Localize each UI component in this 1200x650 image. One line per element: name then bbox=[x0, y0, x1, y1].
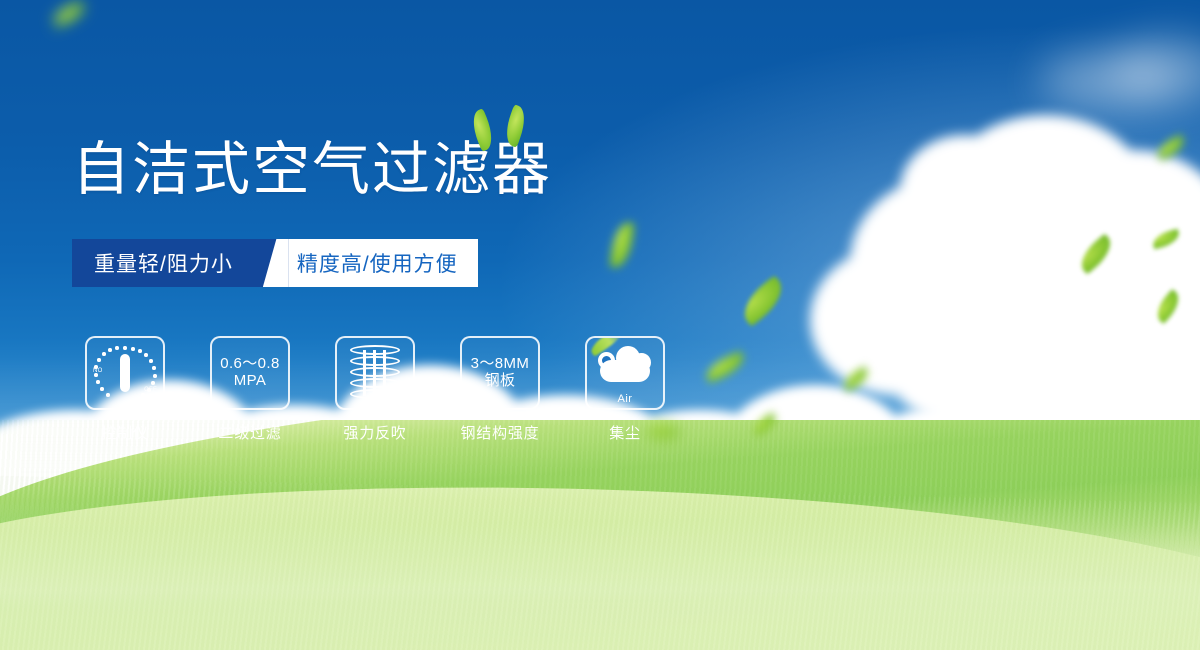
feature-icon-box: Air bbox=[585, 336, 665, 410]
feature-item-strong-backblow[interactable]: 强力反吹 bbox=[322, 336, 428, 443]
cloud-base bbox=[600, 360, 650, 382]
tagline-badges: 重量轻/阻力小 精度高/使用方便 bbox=[72, 239, 478, 287]
feature-list: NO OFF 控制仪 0.6〜0.8 MPA 二级过滤 bbox=[72, 336, 678, 443]
sprout-leaf-right bbox=[501, 104, 531, 147]
feature-item-dust-collection[interactable]: Air 集尘 bbox=[572, 336, 678, 443]
control-dial-icon: NO OFF bbox=[94, 344, 156, 402]
air-label: Air bbox=[618, 393, 633, 405]
banner-content: 自洁式空气过滤器 重量轻/阻力小 精度高/使用方便 bbox=[0, 0, 1200, 650]
dial-needle bbox=[120, 354, 130, 392]
feature-icon-text-line2: MPA bbox=[234, 373, 267, 390]
filter-cartridge-icon bbox=[350, 345, 400, 401]
feature-caption: 集尘 bbox=[609, 422, 641, 443]
sprout-leaf-left bbox=[467, 108, 498, 151]
feature-caption: 控制仪 bbox=[101, 422, 148, 443]
feature-icon-box: 3〜8MM 钢板 bbox=[460, 336, 540, 410]
badge-right: 精度高/使用方便 bbox=[289, 239, 478, 287]
sprout-leaves-icon bbox=[468, 106, 538, 152]
feature-caption: 钢结构强度 bbox=[460, 422, 539, 443]
feature-caption: 二级过滤 bbox=[218, 422, 281, 443]
feature-icon-text-line2: 钢板 bbox=[485, 373, 516, 390]
feature-caption: 强力反吹 bbox=[343, 422, 406, 443]
feature-item-controller[interactable]: NO OFF 控制仪 bbox=[72, 336, 178, 443]
title-block: 自洁式空气过滤器 bbox=[72, 140, 552, 198]
feature-icon-box bbox=[335, 336, 415, 410]
feature-item-steel-strength[interactable]: 3〜8MM 钢板 钢结构强度 bbox=[447, 336, 553, 443]
product-banner: 自洁式空气过滤器 重量轻/阻力小 精度高/使用方便 bbox=[0, 0, 1200, 650]
feature-icon-box: NO OFF bbox=[85, 336, 165, 410]
feature-item-secondary-filtration[interactable]: 0.6〜0.8 MPA 二级过滤 bbox=[197, 336, 303, 443]
badge-left: 重量轻/阻力小 bbox=[72, 239, 263, 287]
dial-label-off: OFF bbox=[144, 387, 157, 393]
feature-icon-box: 0.6〜0.8 MPA bbox=[210, 336, 290, 410]
feature-icon-text-line1: 0.6〜0.8 bbox=[220, 356, 280, 373]
feature-icon-text-line1: 3〜8MM bbox=[471, 356, 530, 373]
dial-label-on: NO bbox=[93, 368, 103, 374]
badge-divider bbox=[263, 239, 289, 287]
air-cloud-icon bbox=[594, 342, 656, 392]
